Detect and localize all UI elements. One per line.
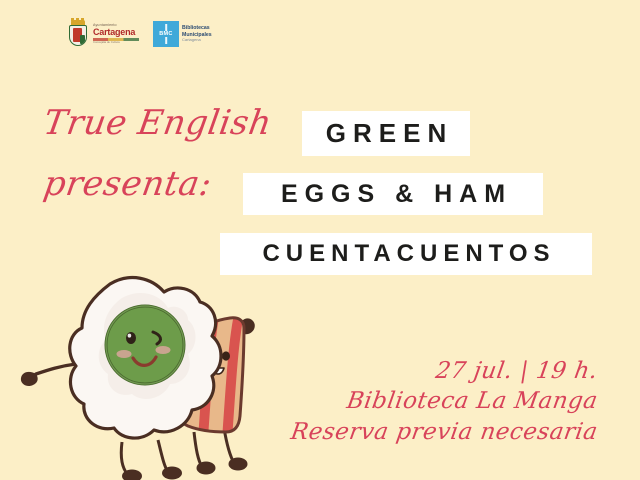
presenter-line-2: presenta: bbox=[41, 164, 215, 204]
fried-egg-and-bacon-characters-illustration bbox=[18, 262, 278, 480]
event-details: 27 jul. | 19 h. Biblioteca La Manga Rese… bbox=[291, 356, 598, 447]
logo-bmc-mark-text: BMC bbox=[158, 31, 173, 37]
cartagena-coat-of-arms-icon bbox=[66, 20, 90, 48]
logo-ayuntamiento-cartagena: Ayuntamiento Cartagena Concejalia de Cul… bbox=[66, 19, 139, 49]
event-datetime: 27 jul. | 19 h. bbox=[289, 356, 600, 386]
logo-ayuntamiento-text: Ayuntamiento Cartagena Concejalia de Cul… bbox=[93, 24, 139, 44]
logo-ayuntamiento-strip-label: Concejalia de Cultura bbox=[93, 41, 139, 44]
logo-bibliotecas-municipales: BMC Bibliotecas Municipales Cartagena bbox=[153, 19, 212, 49]
presenter-line-1: True English bbox=[41, 103, 275, 143]
title-line-green: GREEN bbox=[302, 111, 470, 156]
event-venue: Biblioteca La Manga bbox=[289, 386, 600, 416]
logo-ayuntamiento-rule bbox=[93, 38, 139, 41]
event-booking-note: Reserva previa necesaria bbox=[289, 417, 600, 447]
logo-bibliotecas-text: Bibliotecas Municipales Cartagena bbox=[182, 25, 212, 43]
open-book-icon: BMC bbox=[153, 21, 179, 47]
poster-canvas: Ayuntamiento Cartagena Concejalia de Cul… bbox=[0, 0, 640, 480]
logo-bibliotecas-sub: Cartagena bbox=[182, 38, 212, 43]
logo-ayuntamiento-name: Cartagena bbox=[93, 28, 139, 37]
title-line-eggs-and-ham: EGGS & HAM bbox=[243, 173, 543, 215]
logo-bar: Ayuntamiento Cartagena Concejalia de Cul… bbox=[66, 17, 212, 51]
